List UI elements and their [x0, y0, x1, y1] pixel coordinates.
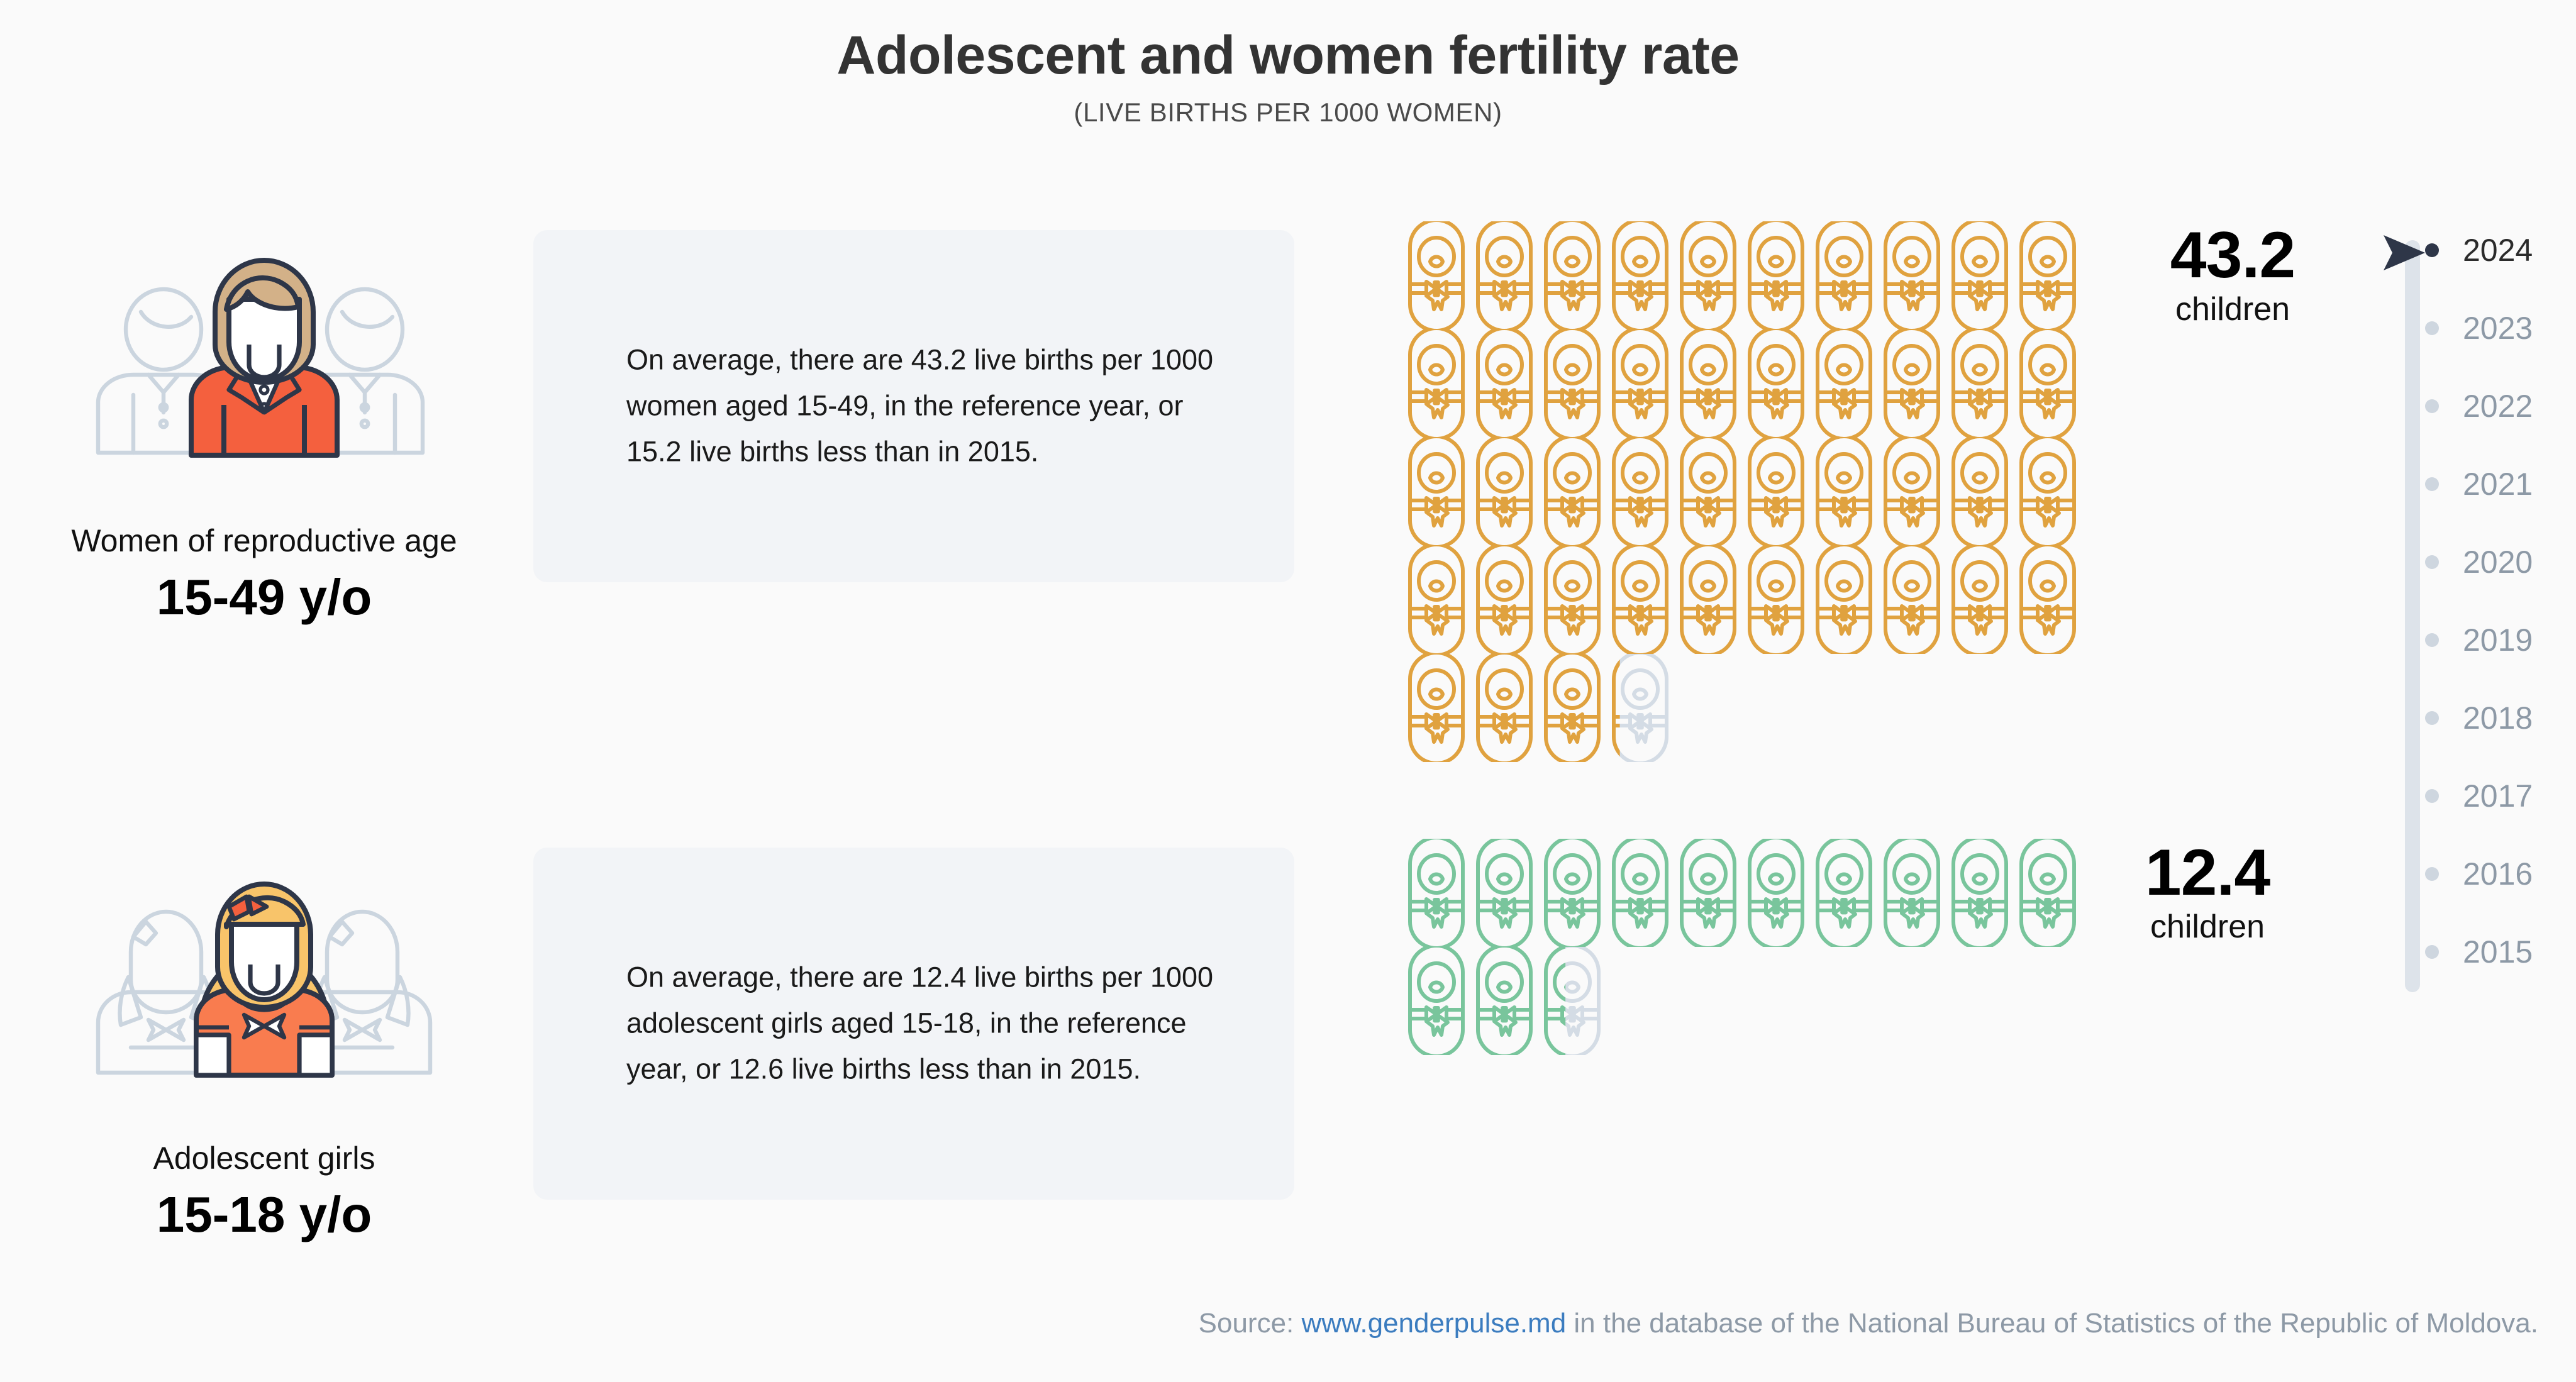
persona-age-women: 15-49 y/o	[25, 571, 503, 624]
swaddled-baby-icon	[1878, 329, 1946, 438]
pictogram-icon	[1810, 329, 1878, 438]
source-link[interactable]: www.genderpulse.md	[1302, 1308, 1567, 1339]
swaddled-baby-icon	[1742, 546, 1810, 654]
pictogram-icon	[1538, 654, 1606, 762]
pictogram-icon	[1606, 221, 1674, 329]
pictogram-icon	[1674, 546, 1742, 654]
pictogram-icon	[1742, 839, 1810, 947]
description-text-women: On average, there are 43.2 live births p…	[626, 338, 1230, 475]
swaddled-baby-icon	[1606, 546, 1674, 654]
pictogram-icon	[1402, 654, 1470, 762]
timeline-dot-icon	[2425, 555, 2439, 569]
timeline-dot-icon	[2425, 477, 2439, 491]
swaddled-baby-icon	[1878, 546, 1946, 654]
pictogram-icon	[1470, 438, 1538, 546]
swaddled-baby-icon	[1402, 438, 1470, 546]
pictogram-chart-girls	[1402, 839, 2101, 1055]
value-block-girls: 12.4 children	[2075, 840, 2340, 945]
pictogram-icon	[1538, 839, 1606, 947]
pictogram-icon	[1538, 546, 1606, 654]
pictogram-icon	[1742, 221, 1810, 329]
timeline-dot-icon	[2425, 633, 2439, 647]
persona-age-girls: 15-18 y/o	[25, 1188, 503, 1241]
swaddled-baby-icon	[1470, 438, 1538, 546]
pictogram-icon	[1538, 947, 1606, 1055]
swaddled-baby-icon	[1402, 947, 1470, 1055]
swaddled-baby-icon	[1810, 839, 1878, 947]
value-unit-women: children	[2101, 292, 2365, 328]
pictogram-icon	[1606, 654, 1674, 762]
pictogram-icon	[2014, 839, 2082, 947]
pictogram-icon	[2014, 329, 2082, 438]
timeline-year-2021[interactable]: 2021	[2425, 465, 2570, 503]
persona-women: Women of reproductive age 15-49 y/o	[25, 219, 503, 624]
pictogram-icon	[1742, 329, 1810, 438]
timeline-dot-icon	[2425, 711, 2439, 725]
swaddled-baby-icon	[1946, 221, 2014, 329]
pictogram-chart-women	[1402, 221, 2101, 762]
pictogram-icon	[1810, 438, 1878, 546]
swaddled-baby-icon	[1878, 438, 1946, 546]
pictogram-icon	[1946, 546, 2014, 654]
pictogram-icon	[1674, 839, 1742, 947]
timeline-dot-icon	[2425, 867, 2439, 881]
swaddled-baby-icon	[1606, 329, 1674, 438]
timeline-dot-icon	[2425, 945, 2439, 959]
timeline-year-2019[interactable]: 2019	[2425, 621, 2570, 659]
pictogram-grid-girls	[1402, 839, 2082, 1055]
pictogram-icon	[1538, 438, 1606, 546]
timeline-year-2015[interactable]: 2015	[2425, 933, 2570, 971]
swaddled-baby-icon	[1674, 329, 1742, 438]
pictogram-icon	[1470, 839, 1538, 947]
swaddled-baby-icon	[1946, 839, 2014, 947]
swaddled-baby-icon	[2014, 221, 2082, 329]
swaddled-baby-icon	[1674, 546, 1742, 654]
swaddled-baby-icon	[1538, 839, 1606, 947]
swaddled-baby-icon	[1742, 438, 1810, 546]
pictogram-icon	[1810, 221, 1878, 329]
timeline-dot-icon	[2425, 243, 2439, 257]
pictogram-icon	[1606, 329, 1674, 438]
swaddled-baby-icon	[1538, 438, 1606, 546]
pictogram-icon	[2014, 546, 2082, 654]
timeline-year-label: 2023	[2463, 312, 2533, 344]
description-card-girls: On average, there are 12.4 live births p…	[533, 848, 1294, 1200]
pictogram-icon	[1538, 329, 1606, 438]
pictogram-icon	[2014, 438, 2082, 546]
timeline-year-label: 2016	[2463, 858, 2533, 890]
swaddled-baby-icon	[1946, 546, 2014, 654]
infographic-page: Adolescent and women fertility rate (LIV…	[0, 0, 2576, 1382]
footer-prefix: Source:	[1199, 1308, 1302, 1339]
timeline-year-2024[interactable]: 2024	[2425, 231, 2570, 269]
pictogram-icon	[1470, 654, 1538, 762]
pictogram-icon	[1470, 546, 1538, 654]
pictogram-icon	[1878, 438, 1946, 546]
swaddled-baby-icon	[1402, 839, 1470, 947]
pictogram-icon	[1810, 839, 1878, 947]
description-text-girls: On average, there are 12.4 live births p…	[626, 955, 1230, 1093]
swaddled-baby-icon	[1470, 654, 1538, 762]
timeline-dot-icon	[2425, 321, 2439, 335]
persona-girls: Adolescent girls 15-18 y/o	[25, 836, 503, 1241]
swaddled-baby-icon	[1538, 546, 1606, 654]
swaddled-baby-icon	[1810, 546, 1878, 654]
footer-source: Source: www.genderpulse.md in the databa…	[0, 1308, 2576, 1339]
value-number-women: 43.2	[2101, 223, 2365, 288]
women-group-icon	[75, 219, 453, 508]
year-timeline[interactable]: 2024202320222021202020192018201720162015	[2390, 231, 2572, 1011]
timeline-year-label: 2020	[2463, 546, 2533, 578]
pictogram-icon	[1878, 546, 1946, 654]
section-women-of-reproductive-age: Women of reproductive age 15-49 y/o On a…	[0, 219, 2576, 659]
swaddled-baby-icon	[1946, 438, 2014, 546]
timeline-year-label: 2021	[2463, 468, 2533, 500]
timeline-year-label: 2022	[2463, 390, 2533, 422]
value-block-women: 43.2 children	[2101, 223, 2365, 328]
timeline-track[interactable]	[2405, 240, 2420, 992]
pictogram-icon	[1878, 839, 1946, 947]
pictogram-icon	[1674, 438, 1742, 546]
timeline-year-2017[interactable]: 2017	[2425, 777, 2570, 815]
swaddled-baby-icon	[1470, 839, 1538, 947]
timeline-dot-icon	[2425, 399, 2439, 413]
pictogram-icon	[1470, 221, 1538, 329]
swaddled-baby-icon	[1538, 947, 1606, 1055]
persona-label-girls: Adolescent girls	[25, 1141, 503, 1177]
swaddled-baby-icon	[1606, 654, 1674, 762]
timeline-dot-icon	[2425, 789, 2439, 803]
swaddled-baby-icon	[1402, 221, 1470, 329]
swaddled-baby-icon	[1470, 329, 1538, 438]
page-subtitle: (LIVE BIRTHS PER 1000 WOMEN)	[0, 97, 2576, 128]
page-title: Adolescent and women fertility rate	[0, 26, 2576, 85]
pictogram-icon	[1674, 329, 1742, 438]
swaddled-baby-icon	[1810, 438, 1878, 546]
swaddled-baby-icon	[1538, 329, 1606, 438]
pictogram-icon	[1402, 947, 1470, 1055]
swaddled-baby-icon	[1674, 839, 1742, 947]
description-card-women: On average, there are 43.2 live births p…	[533, 230, 1294, 582]
swaddled-baby-icon	[2014, 329, 2082, 438]
pictogram-icon	[1810, 546, 1878, 654]
pictogram-icon	[1742, 546, 1810, 654]
swaddled-baby-icon	[1674, 221, 1742, 329]
pictogram-icon	[1606, 438, 1674, 546]
timeline-year-label: 2018	[2463, 702, 2533, 734]
pictogram-icon	[1674, 221, 1742, 329]
pictogram-icon	[1402, 329, 1470, 438]
swaddled-baby-icon	[1470, 546, 1538, 654]
timeline-year-2023[interactable]: 2023	[2425, 309, 2570, 347]
pictogram-icon	[1878, 221, 1946, 329]
section-adolescent-girls: Adolescent girls 15-18 y/o On average, t…	[0, 836, 2576, 1276]
swaddled-baby-icon	[1674, 438, 1742, 546]
persona-label-women: Women of reproductive age	[25, 523, 503, 560]
pictogram-icon	[1470, 947, 1538, 1055]
swaddled-baby-icon	[1606, 839, 1674, 947]
swaddled-baby-icon	[1606, 221, 1674, 329]
pictogram-icon	[1402, 438, 1470, 546]
pictogram-icon	[1878, 329, 1946, 438]
timeline-year-2016[interactable]: 2016	[2425, 855, 2570, 893]
swaddled-baby-icon	[1402, 546, 1470, 654]
timeline-year-label: 2015	[2463, 936, 2533, 968]
pictogram-icon	[1606, 546, 1674, 654]
swaddled-baby-icon	[1470, 947, 1538, 1055]
pictogram-icon	[1538, 221, 1606, 329]
pictogram-icon	[1402, 546, 1470, 654]
timeline-year-2020[interactable]: 2020	[2425, 543, 2570, 581]
footer-suffix: in the database of the National Bureau o…	[1566, 1308, 2538, 1339]
pictogram-grid-women	[1402, 221, 2082, 762]
swaddled-baby-icon	[1538, 654, 1606, 762]
pictogram-icon	[1946, 329, 2014, 438]
swaddled-baby-icon	[1402, 329, 1470, 438]
swaddled-baby-icon	[1878, 221, 1946, 329]
swaddled-baby-icon	[2014, 546, 2082, 654]
swaddled-baby-icon	[1810, 221, 1878, 329]
swaddled-baby-icon	[2014, 839, 2082, 947]
timeline-year-label: 2024	[2463, 235, 2533, 266]
pictogram-icon	[2014, 221, 2082, 329]
swaddled-baby-icon	[1810, 329, 1878, 438]
swaddled-baby-icon	[2014, 438, 2082, 546]
swaddled-baby-icon	[1878, 839, 1946, 947]
value-unit-girls: children	[2075, 909, 2340, 945]
pictogram-icon	[1946, 221, 2014, 329]
timeline-year-label: 2017	[2463, 780, 2533, 812]
swaddled-baby-icon	[1742, 221, 1810, 329]
timeline-year-2022[interactable]: 2022	[2425, 387, 2570, 425]
timeline-year-2018[interactable]: 2018	[2425, 699, 2570, 737]
swaddled-baby-icon	[1470, 221, 1538, 329]
adolescent-girls-group-icon	[75, 836, 453, 1125]
header: Adolescent and women fertility rate (LIV…	[0, 26, 2576, 128]
pictogram-icon	[1470, 329, 1538, 438]
pictogram-icon	[1606, 839, 1674, 947]
pictogram-icon	[1402, 221, 1470, 329]
swaddled-baby-icon	[1606, 438, 1674, 546]
pictogram-icon	[1946, 438, 2014, 546]
swaddled-baby-icon	[1946, 329, 2014, 438]
pictogram-icon	[1742, 438, 1810, 546]
swaddled-baby-icon	[1402, 654, 1470, 762]
pictogram-icon	[1402, 839, 1470, 947]
swaddled-baby-icon	[1742, 839, 1810, 947]
value-number-girls: 12.4	[2075, 840, 2340, 905]
swaddled-baby-icon	[1742, 329, 1810, 438]
pictogram-icon	[1946, 839, 2014, 947]
timeline-year-label: 2019	[2463, 624, 2533, 656]
swaddled-baby-icon	[1538, 221, 1606, 329]
